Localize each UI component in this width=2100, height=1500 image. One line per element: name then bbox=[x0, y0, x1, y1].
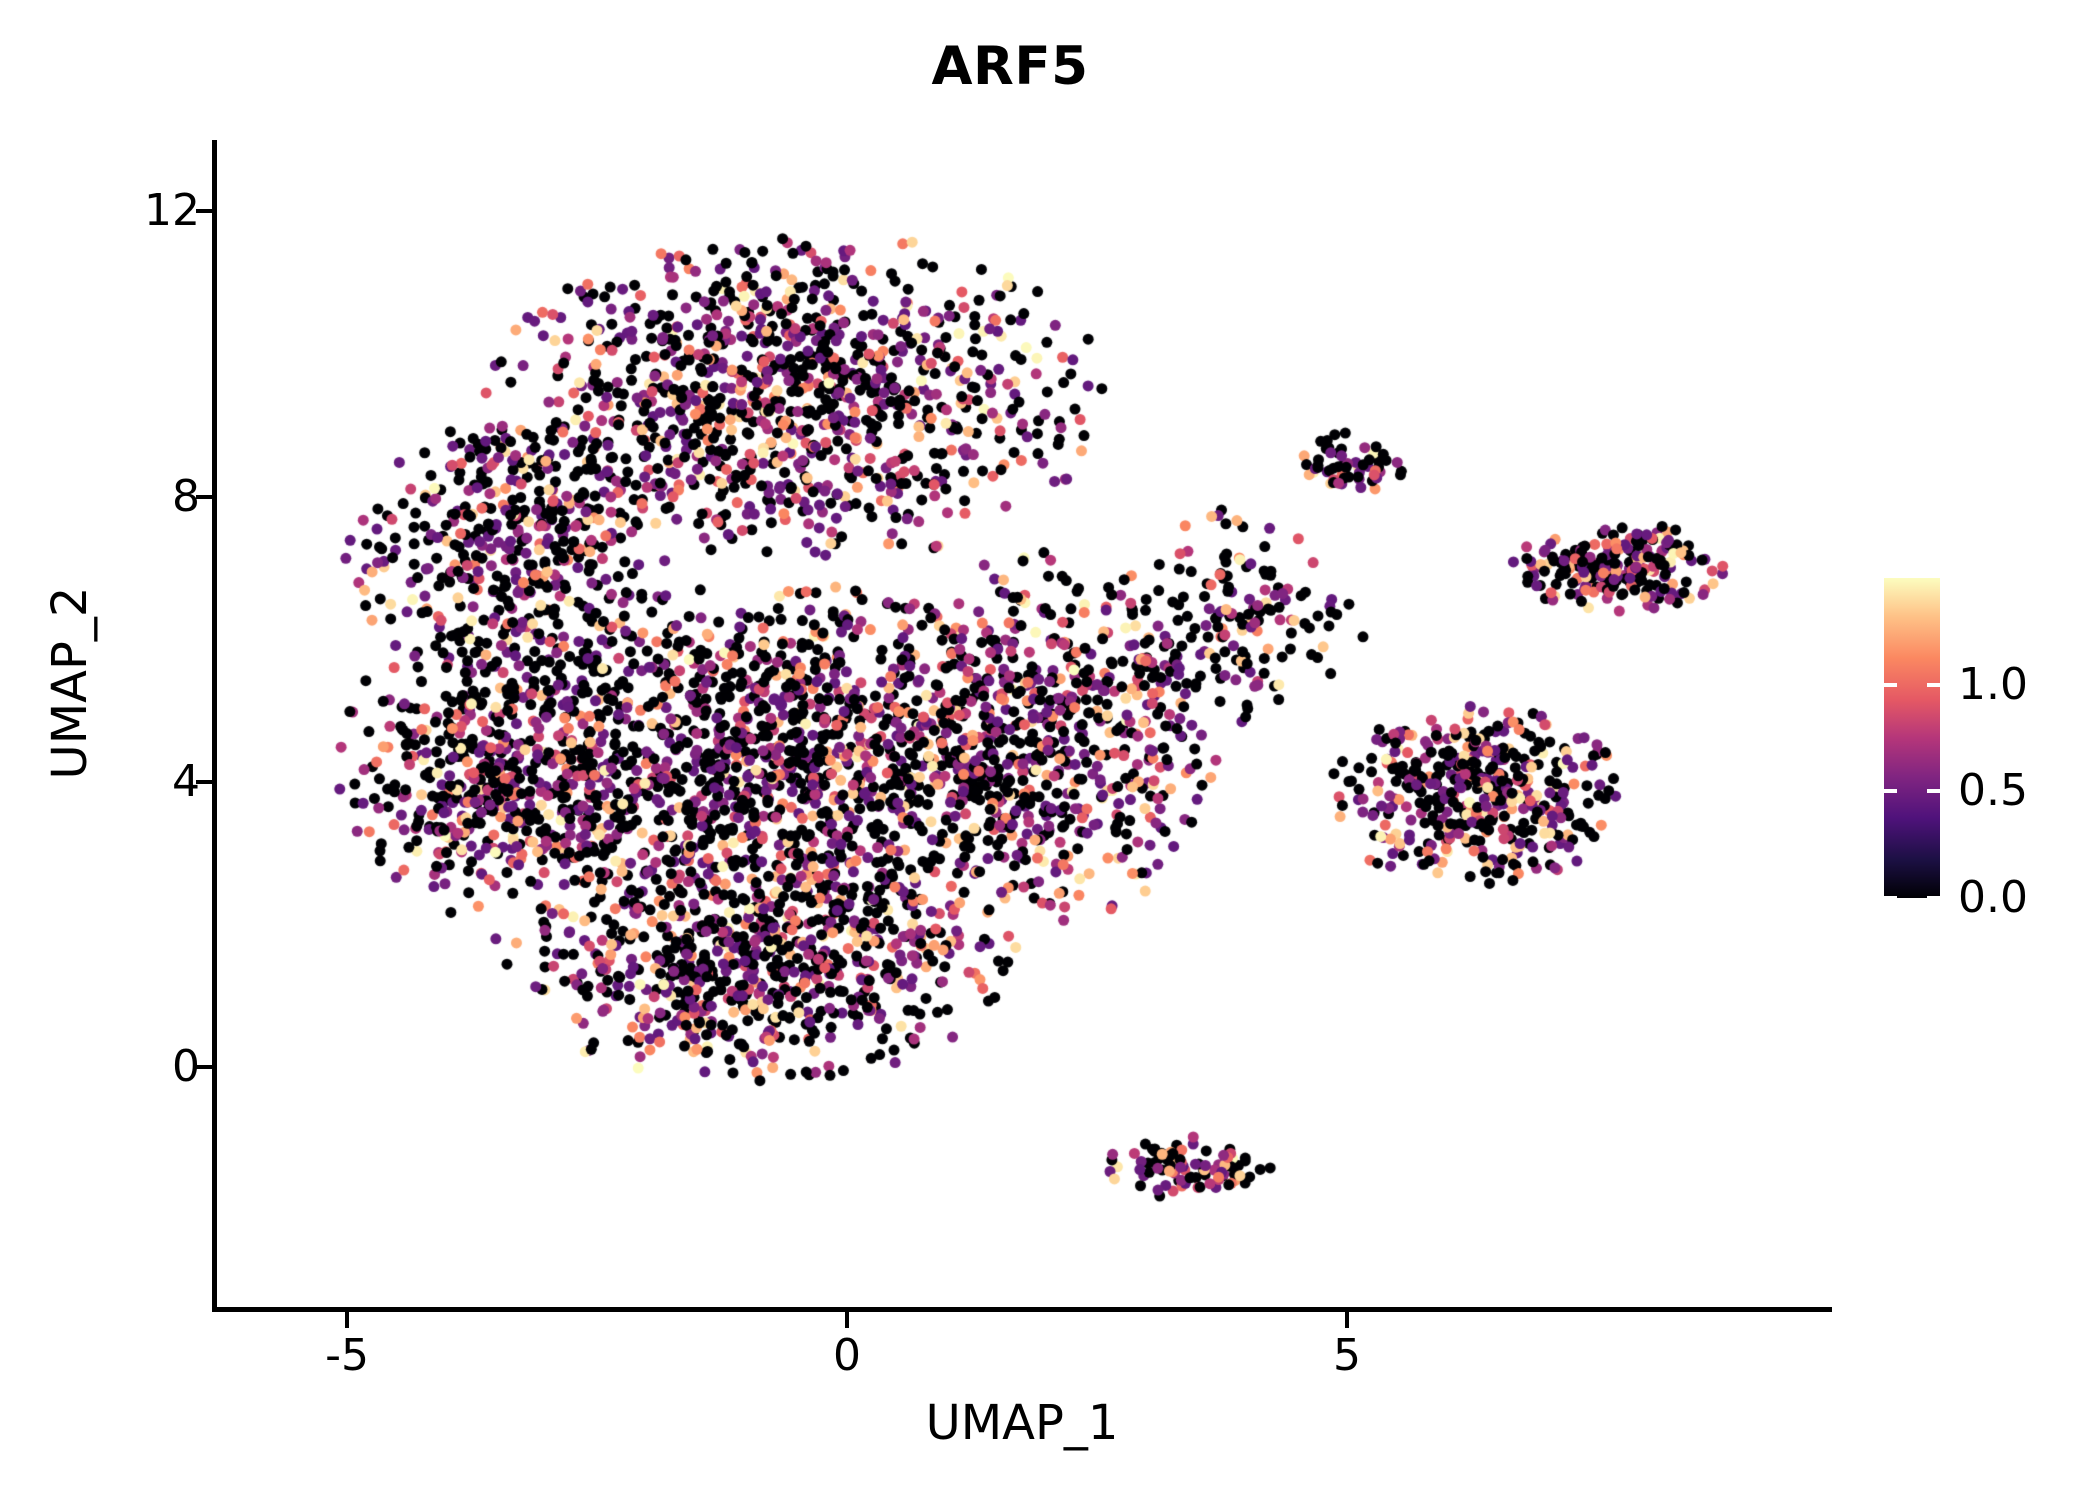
x-axis-label: UMAP_1 bbox=[212, 1395, 1832, 1451]
colorbar-tick-mark-right bbox=[1927, 683, 1940, 687]
colorbar-gradient bbox=[1884, 578, 1940, 898]
colorbar-tick-label: 1.0 bbox=[1958, 663, 2028, 707]
page-title: ARF5 bbox=[0, 36, 2020, 97]
x-tick-label: -5 bbox=[325, 1334, 369, 1378]
x-tick-mark bbox=[345, 1312, 349, 1328]
y-axis-spine bbox=[212, 140, 217, 1312]
x-axis-spine bbox=[212, 1307, 1832, 1312]
colorbar: 1.00.50.0 bbox=[1884, 578, 2084, 898]
y-tick-label: 8 bbox=[172, 475, 200, 519]
colorbar-tick-mark-right bbox=[1927, 896, 1940, 900]
feature-plot-figure: ARF5 12840 -505 UMAP_1 UMAP_2 1.00.50.0 bbox=[0, 0, 2100, 1500]
colorbar-tick-label: 0.0 bbox=[1958, 876, 2028, 920]
axes-frame: 12840 -505 bbox=[212, 140, 1832, 1310]
colorbar-tick-label: 0.5 bbox=[1958, 769, 2028, 813]
x-tick-mark bbox=[845, 1312, 849, 1328]
x-tick-label: 5 bbox=[1333, 1334, 1361, 1378]
colorbar-tick-mark-right bbox=[1927, 789, 1940, 793]
colorbar-tick-mark-left bbox=[1884, 683, 1897, 687]
y-tick-label: 12 bbox=[144, 189, 200, 233]
x-tick-mark bbox=[1345, 1312, 1349, 1328]
colorbar-tick-mark-left bbox=[1884, 789, 1897, 793]
y-tick-label: 4 bbox=[172, 760, 200, 804]
y-tick-label: 0 bbox=[172, 1045, 200, 1089]
colorbar-tick-mark-left bbox=[1884, 896, 1897, 900]
y-axis-label: UMAP_2 bbox=[42, 303, 98, 1063]
x-tick-label: 0 bbox=[833, 1334, 861, 1378]
